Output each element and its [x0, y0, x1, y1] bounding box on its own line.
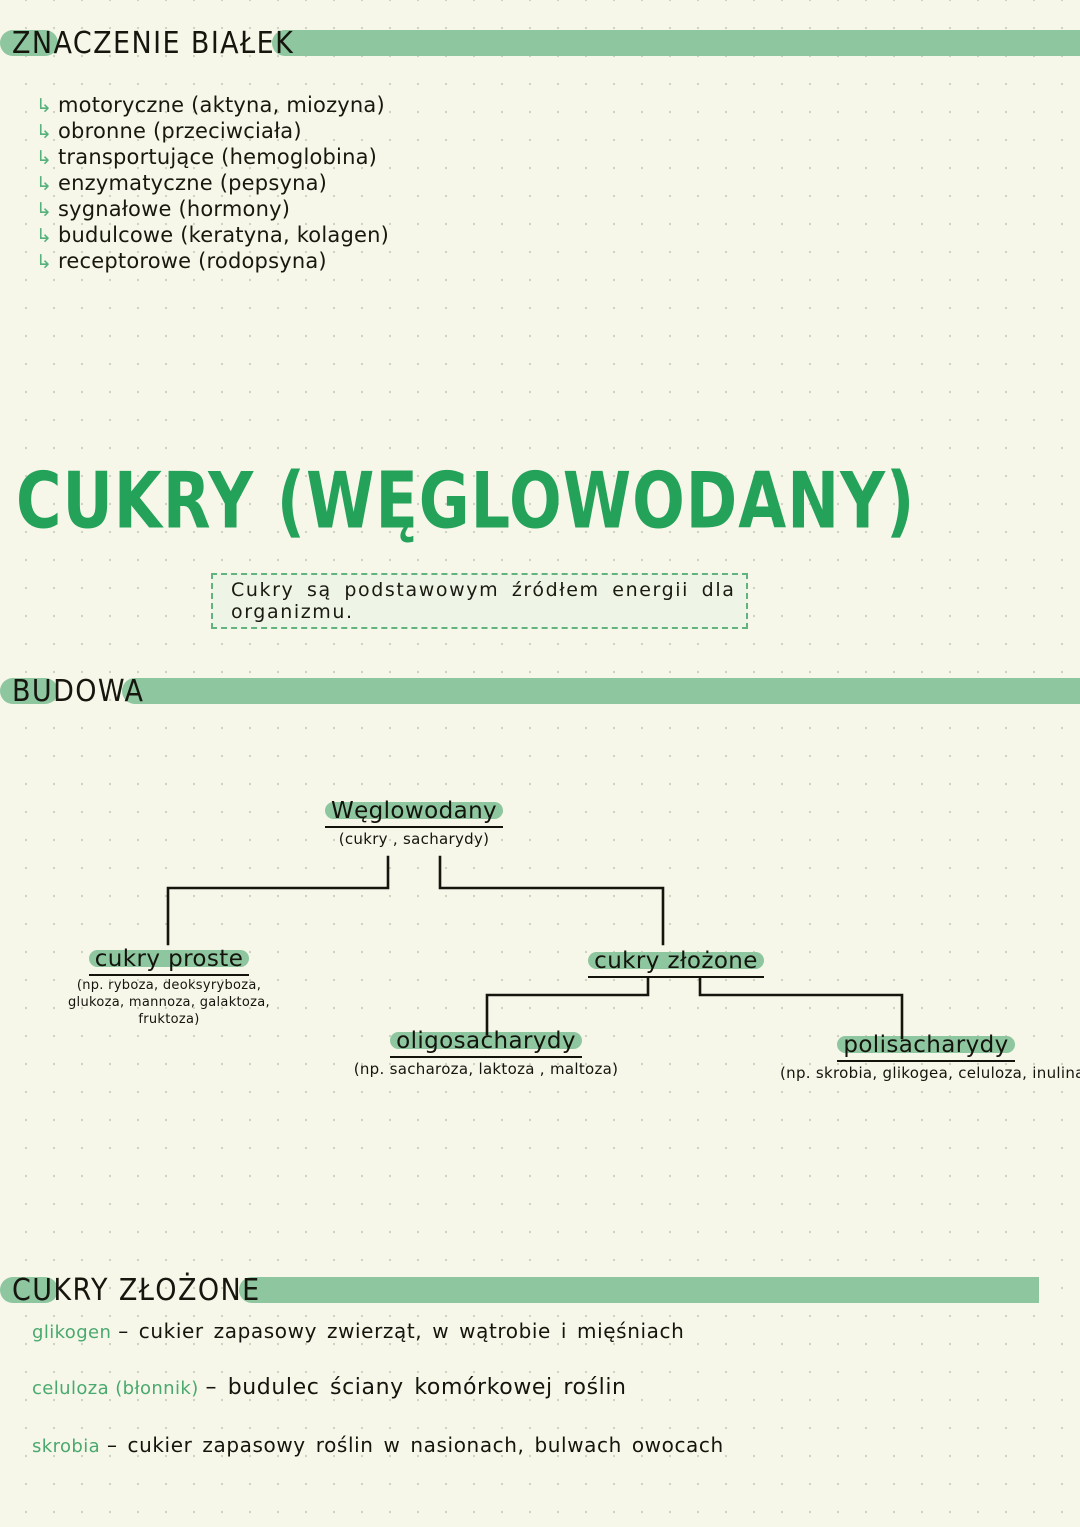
- list-item-label: transportujące (hemoglobina): [58, 146, 377, 169]
- header-bar-right: [239, 1277, 1039, 1303]
- definition-description: – cukier zapasowy zwierząt, w wątrobie i…: [118, 1319, 684, 1343]
- list-item: ↳ obronne (przeciwciała): [36, 120, 389, 146]
- list-item-label: receptorowe (rodopsyna): [58, 250, 327, 273]
- connector-root-to-cukry-zlozone: [440, 857, 663, 944]
- list-item: ↳ sygnałowe (hormony): [36, 198, 389, 224]
- tree-node-cukry-proste: cukry proste (np. ryboza, deoksyryboza, …: [58, 946, 280, 1027]
- page-title: CUKRY (WĘGLOWODANY): [16, 455, 915, 546]
- arrow-down-right-icon: ↳: [36, 173, 58, 195]
- definition-term: celuloza (błonnik): [32, 1378, 199, 1399]
- tree-node-sublabel-line1: (np. ryboza, deoksyryboza,: [58, 979, 280, 993]
- tree-node-sublabel-line2: glukoza, mannoza, galaktoza,: [58, 996, 280, 1010]
- section-header-cukry-zlozone: CUKRY ZŁOŻONE: [0, 1277, 1039, 1303]
- connector-zlozone-to-polisacharydy: [700, 978, 902, 1038]
- definition-description: – cukier zapasowy roślin w nasionach, bu…: [107, 1433, 724, 1457]
- tree-node-label: oligosacharydy: [390, 1028, 582, 1058]
- list-item: ↳ enzymatyczne (pepsyna): [36, 172, 389, 198]
- tree-node-label: cukry proste: [89, 946, 250, 976]
- tree-node-oligosacharydy: oligosacharydy (np. sacharoza, laktoza ,…: [340, 1028, 632, 1077]
- list-item-label: enzymatyczne (pepsyna): [58, 172, 327, 195]
- definition-row-skrobia: skrobia – cukier zapasowy roślin w nasio…: [32, 1433, 724, 1457]
- tree-node-label: polisacharydy: [837, 1032, 1014, 1062]
- tree-node-sublabel-line3: fruktoza): [58, 1013, 280, 1027]
- tree-node-sublabel: (np. sacharoza, laktoza , maltoza): [340, 1061, 632, 1077]
- section-title-cukry-zlozone: CUKRY ZŁOŻONE: [12, 1273, 261, 1308]
- section-title-budowa: BUDOWA: [12, 674, 144, 709]
- arrow-down-right-icon: ↳: [36, 225, 58, 247]
- header-bar-right: [272, 30, 1080, 56]
- arrow-down-right-icon: ↳: [36, 251, 58, 273]
- protein-functions-list: ↳ motoryczne (aktyna, miozyna) ↳ obronne…: [36, 94, 389, 276]
- header-bar-right: [122, 678, 1080, 704]
- definition-term: skrobia: [32, 1436, 100, 1457]
- tree-node-sublabel: (np. skrobia, glikogea, celuloza, inulin…: [780, 1065, 1072, 1081]
- arrow-down-right-icon: ↳: [36, 121, 58, 143]
- definition-callout: Cukry są podstawowym źródłem energii dla…: [211, 573, 748, 629]
- definition-row-glikogen: glikogen – cukier zapasowy zwierząt, w w…: [32, 1319, 684, 1343]
- list-item-label: sygnałowe (hormony): [58, 198, 290, 221]
- list-item-label: budulcowe (keratyna, kolagen): [58, 224, 389, 247]
- definition-term: glikogen: [32, 1322, 111, 1343]
- list-item: ↳ receptorowe (rodopsyna): [36, 250, 389, 276]
- section-header-znaczenie-bialek: ZNACZENIE BIAŁEK: [0, 30, 1080, 56]
- arrow-down-right-icon: ↳: [36, 199, 58, 221]
- list-item: ↳ motoryczne (aktyna, miozyna): [36, 94, 389, 120]
- definition-row-celuloza: celuloza (błonnik) – budulec ściany komó…: [32, 1375, 627, 1400]
- tree-node-polisacharydy: polisacharydy (np. skrobia, glikogea, ce…: [780, 1032, 1072, 1081]
- list-item: ↳ transportujące (hemoglobina): [36, 146, 389, 172]
- connector-zlozone-to-oligosacharydy: [487, 978, 648, 1034]
- list-item-label: obronne (przeciwciała): [58, 120, 302, 143]
- section-header-budowa: BUDOWA: [0, 678, 1080, 704]
- tree-node-sublabel: (cukry , sacharydy): [300, 831, 528, 847]
- list-item: ↳ budulcowe (keratyna, kolagen): [36, 224, 389, 250]
- tree-node-weglowodany: Węglowodany (cukry , sacharydy): [300, 798, 528, 847]
- connector-root-to-cukry-proste: [168, 857, 388, 944]
- arrow-down-right-icon: ↳: [36, 95, 58, 117]
- tree-node-cukry-zlozone: cukry złożone: [565, 948, 787, 978]
- arrow-down-right-icon: ↳: [36, 147, 58, 169]
- definition-description: – budulec ściany komórkowej roślin: [206, 1375, 627, 1400]
- section-title-znaczenie-bialek: ZNACZENIE BIAŁEK: [12, 26, 294, 61]
- tree-node-label: Węglowodany: [325, 798, 503, 828]
- definition-text: Cukry są podstawowym źródłem energii dla…: [213, 579, 746, 623]
- list-item-label: motoryczne (aktyna, miozyna): [58, 94, 385, 117]
- tree-node-label: cukry złożone: [588, 948, 764, 978]
